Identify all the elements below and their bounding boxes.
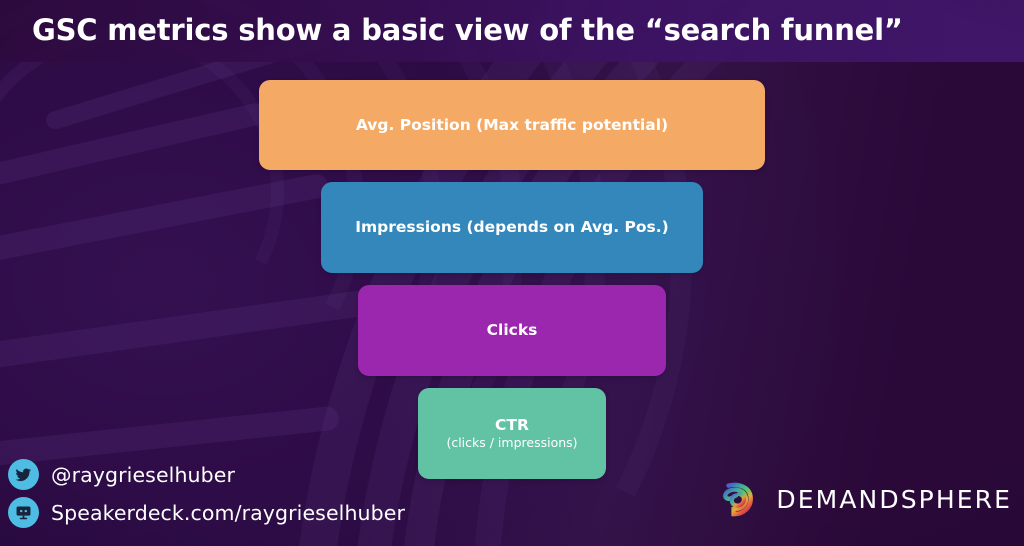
speakerdeck-handle[interactable]: Speakerdeck.com/raygrieselhuber: [51, 501, 405, 525]
twitter-icon[interactable]: [8, 459, 39, 490]
brand-lockup: DEMANDSPHERE: [715, 477, 1012, 521]
twitter-handle[interactable]: @raygrieselhuber: [51, 463, 235, 487]
brand-name: DEMANDSPHERE: [776, 485, 1012, 514]
social-handles: @raygrieselhuber Speakerdeck.com/raygrie…: [8, 459, 405, 528]
funnel-stage-impressions: Impressions (depends on Avg. Pos.): [321, 182, 703, 273]
social-row-twitter[interactable]: @raygrieselhuber: [8, 459, 405, 490]
funnel-stage-clicks: Clicks: [358, 285, 666, 376]
funnel-stage-avg-position: Avg. Position (Max traffic potential): [259, 80, 765, 170]
funnel-stage-label: Avg. Position (Max traffic potential): [356, 116, 668, 135]
demandsphere-logo-icon: [715, 477, 759, 521]
speakerdeck-icon[interactable]: [8, 497, 39, 528]
funnel-stage-label: Clicks: [487, 321, 538, 340]
funnel-stage-ctr: CTR (clicks / impressions): [418, 388, 606, 479]
funnel-stage-label: Impressions (depends on Avg. Pos.): [355, 218, 669, 237]
social-row-speakerdeck[interactable]: Speakerdeck.com/raygrieselhuber: [8, 497, 405, 528]
funnel-stage-label: CTR: [495, 416, 529, 435]
funnel-stage-sublabel: (clicks / impressions): [446, 435, 577, 451]
page-title: GSC metrics show a basic view of the “se…: [32, 4, 1012, 56]
slide: GSC metrics show a basic view of the “se…: [0, 0, 1024, 546]
